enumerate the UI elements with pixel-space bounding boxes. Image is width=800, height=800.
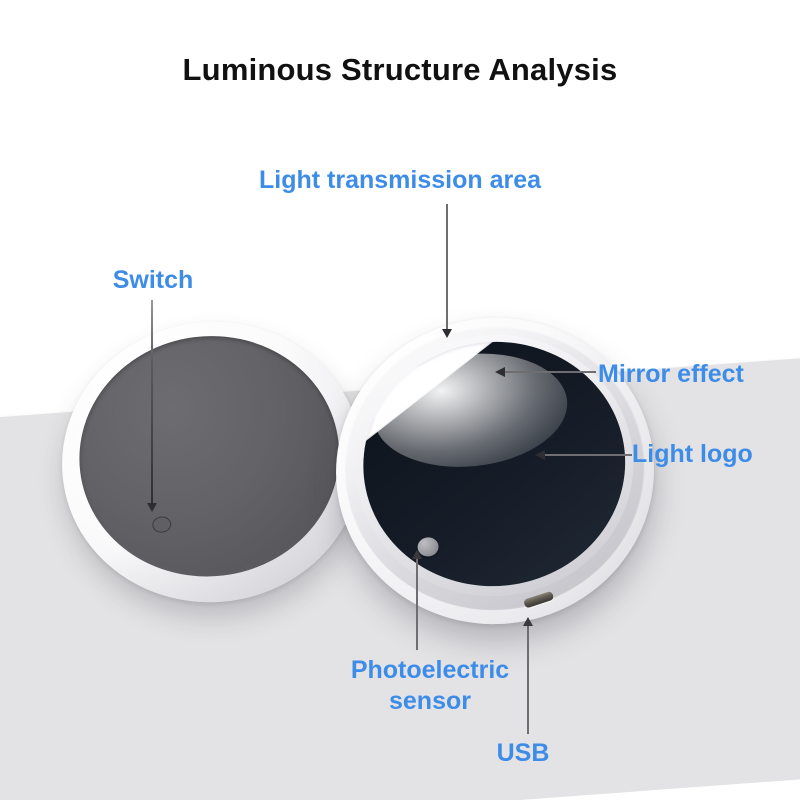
arrowhead-mirror-effect [495,367,505,377]
callout-label-usb: USB [443,738,603,769]
device-mirror-disc [321,302,669,640]
leader-line-light-logo [540,454,632,456]
leader-line-mirror-effect [500,371,596,373]
arrowhead-light-transmission-area [442,329,452,338]
callout-label-switch: Switch [60,265,246,296]
arrowhead-light-logo [535,450,545,460]
callout-label-light-logo: Light logo [632,439,753,470]
arrowhead-usb [523,617,533,626]
callout-label-mirror-effect: Mirror effect [598,359,744,390]
leader-line-switch [151,300,153,508]
page-title: Luminous Structure Analysis [0,52,800,88]
callout-label-light-transmission-area: Light transmission area [0,165,800,196]
callout-label-photoelectric-sensor: Photoelectric sensor [330,655,530,716]
infographic-canvas: Luminous Structure Analysis Light transm… [0,0,800,800]
leader-line-light-transmission-area [446,204,448,332]
arrowhead-switch [147,503,157,512]
arrowhead-photoelectric-sensor [412,550,422,559]
leader-line-photoelectric-sensor [416,556,418,650]
